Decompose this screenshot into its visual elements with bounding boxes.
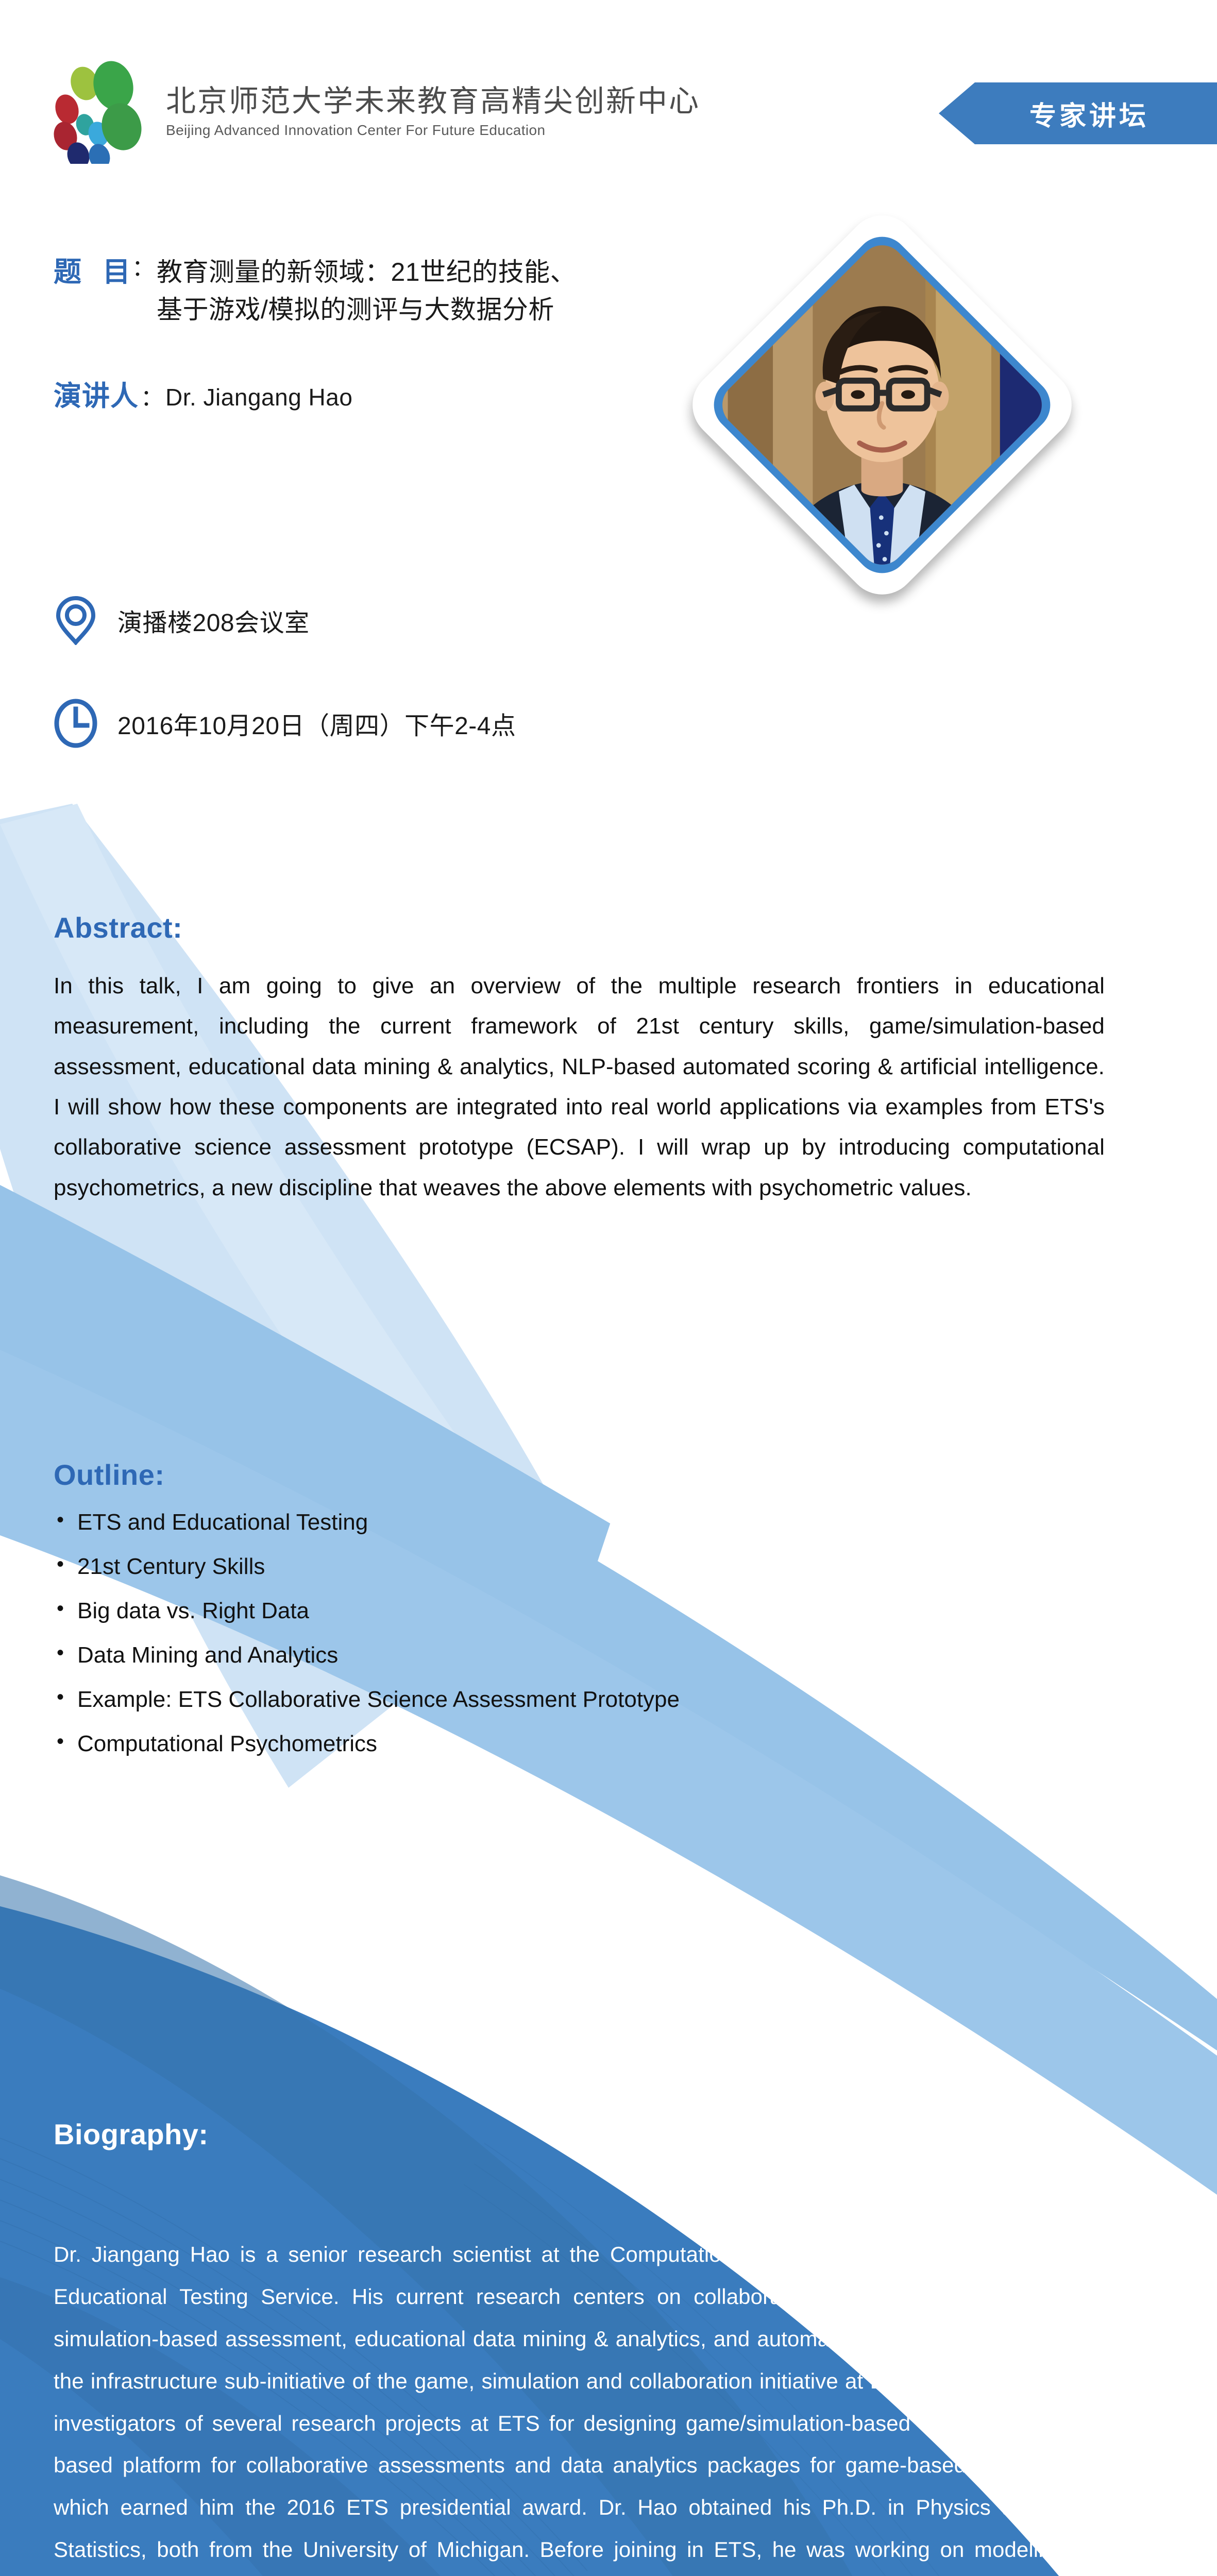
list-item: ETS and Educational Testing — [54, 1509, 1150, 1536]
org-name-en: Beijing Advanced Innovation Center For F… — [166, 121, 700, 139]
seminar-poster: 北京师范大学未来教育高精尖创新中心 Beijing Advanced Innov… — [0, 0, 1217, 2576]
speaker-portrait — [738, 261, 1026, 549]
title-block: 题目 ： 教育测量的新领域：21世纪的技能、 基于游戏/模拟的测评与大数据分析 … — [0, 253, 773, 414]
speaker-row: 演讲人 ： Dr. Jiangang Hao — [0, 373, 773, 414]
abstract-body: In this talk, I am going to give an over… — [54, 966, 1105, 1208]
portrait-photo — [713, 236, 1051, 574]
portrait-photo-clip — [713, 236, 1051, 574]
title-colon: ： — [131, 253, 156, 284]
title-label-char-2: 目 — [103, 257, 131, 287]
clock-icon — [54, 700, 98, 747]
event-location-text: 演播楼208会议室 — [117, 602, 310, 638]
list-item: Data Mining and Analytics — [54, 1642, 1150, 1669]
biography-section: Biography: Dr. Jiangang Hao is a senior … — [54, 2117, 1150, 2576]
outline-section: Outline: ETS and Educational Testing 21s… — [54, 1458, 1150, 1757]
speaker-colon: ： — [139, 379, 165, 412]
event-meta: 演播楼208会议室 2016年10月20日（周四）下午2-4点 — [54, 597, 516, 747]
event-time-row: 2016年10月20日（周四）下午2-4点 — [54, 700, 516, 747]
title-label-char-1: 题 — [54, 257, 82, 287]
abstract-heading: Abstract: — [54, 911, 1150, 944]
logo-dots-icon — [49, 61, 153, 164]
event-time-text: 2016年10月20日（周四）下午2-4点 — [117, 705, 516, 741]
forum-ribbon-badge: 专家讲坛 — [939, 82, 1217, 144]
biography-heading: Biography: — [54, 2117, 1150, 2151]
talk-title-line-2: 基于游戏/模拟的测评与大数据分析 — [157, 291, 576, 329]
speaker-label: 演讲人 — [54, 373, 139, 414]
talk-title-label: 题目 — [54, 253, 131, 291]
org-name-cn: 北京师范大学未来教育高精尖创新中心 — [166, 86, 700, 117]
organization-logo: 北京师范大学未来教育高精尖创新中心 Beijing Advanced Innov… — [49, 61, 700, 164]
event-location-row: 演播楼208会议室 — [54, 597, 516, 644]
poster-header: 北京师范大学未来教育高精尖创新中心 Beijing Advanced Innov… — [0, 0, 1217, 196]
list-item: Example: ETS Collaborative Science Asses… — [54, 1686, 1150, 1713]
list-item: 21st Century Skills — [54, 1553, 1150, 1580]
speaker-name: Dr. Jiangang Hao — [165, 383, 352, 411]
outline-heading: Outline: — [54, 1458, 1150, 1492]
list-item: Computational Psychometrics — [54, 1731, 1150, 1757]
map-pin-icon — [54, 597, 98, 644]
list-item: Big data vs. Right Data — [54, 1598, 1150, 1624]
outline-list: ETS and Educational Testing 21st Century… — [54, 1509, 1150, 1757]
abstract-section: Abstract: In this talk, I am going to gi… — [54, 911, 1150, 1208]
biography-body: Dr. Jiangang Hao is a senior research sc… — [54, 2233, 1109, 2576]
forum-ribbon-label: 专家讲坛 — [1007, 94, 1149, 133]
talk-title-row: 题目 ： 教育测量的新领域：21世纪的技能、 基于游戏/模拟的测评与大数据分析 — [0, 253, 773, 329]
talk-title-line-1: 教育测量的新领域：21世纪的技能、 — [157, 253, 576, 291]
